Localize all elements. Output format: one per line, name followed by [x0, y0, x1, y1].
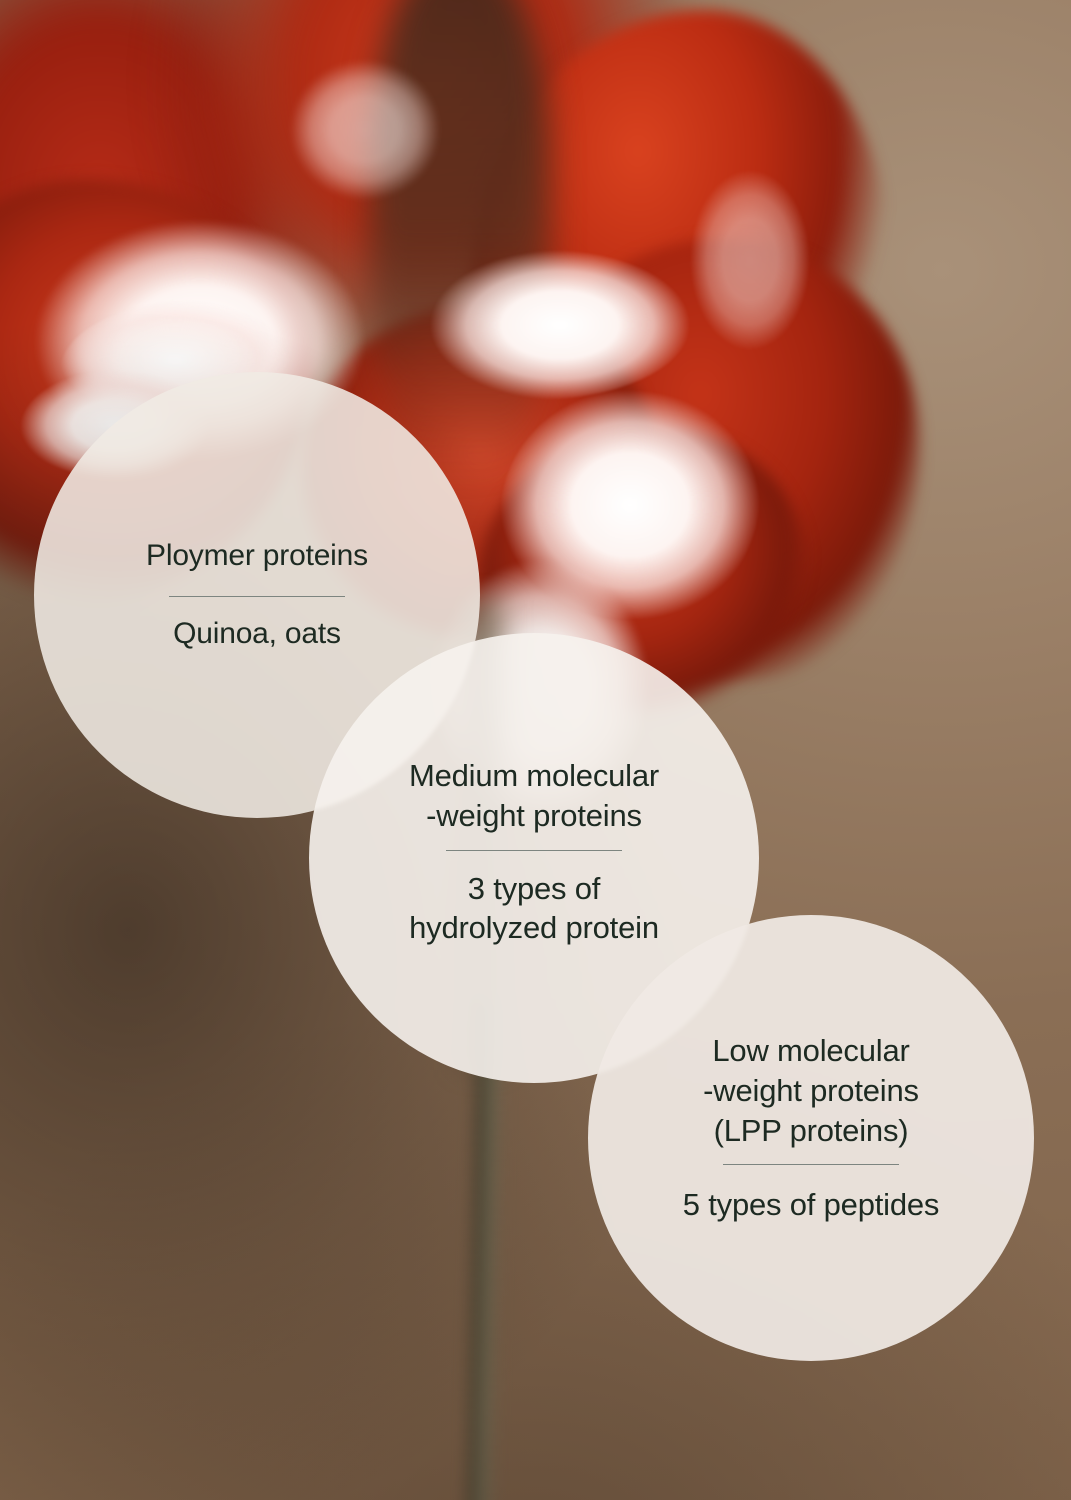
circle-2-divider — [446, 850, 622, 851]
circle-1-subtitle: Quinoa, oats — [173, 615, 341, 653]
circle-3-subtitle: 5 types of peptides — [683, 1185, 939, 1225]
circle-2-title: Medium molecular -weight proteins — [409, 756, 659, 835]
circle-1-title: Ploymer proteins — [146, 537, 368, 575]
infographic-canvas: Ploymer proteins Quinoa, oats Medium mol… — [0, 0, 1071, 1500]
circle-2-subtitle: 3 types of hydrolyzed protein — [409, 869, 659, 948]
info-circle-low-molecular-weight-proteins: Low molecular -weight proteins (LPP prot… — [588, 915, 1034, 1361]
circle-3-title: Low molecular -weight proteins (LPP prot… — [703, 1031, 919, 1150]
circle-1-divider — [169, 596, 345, 597]
circle-3-divider — [723, 1164, 899, 1165]
